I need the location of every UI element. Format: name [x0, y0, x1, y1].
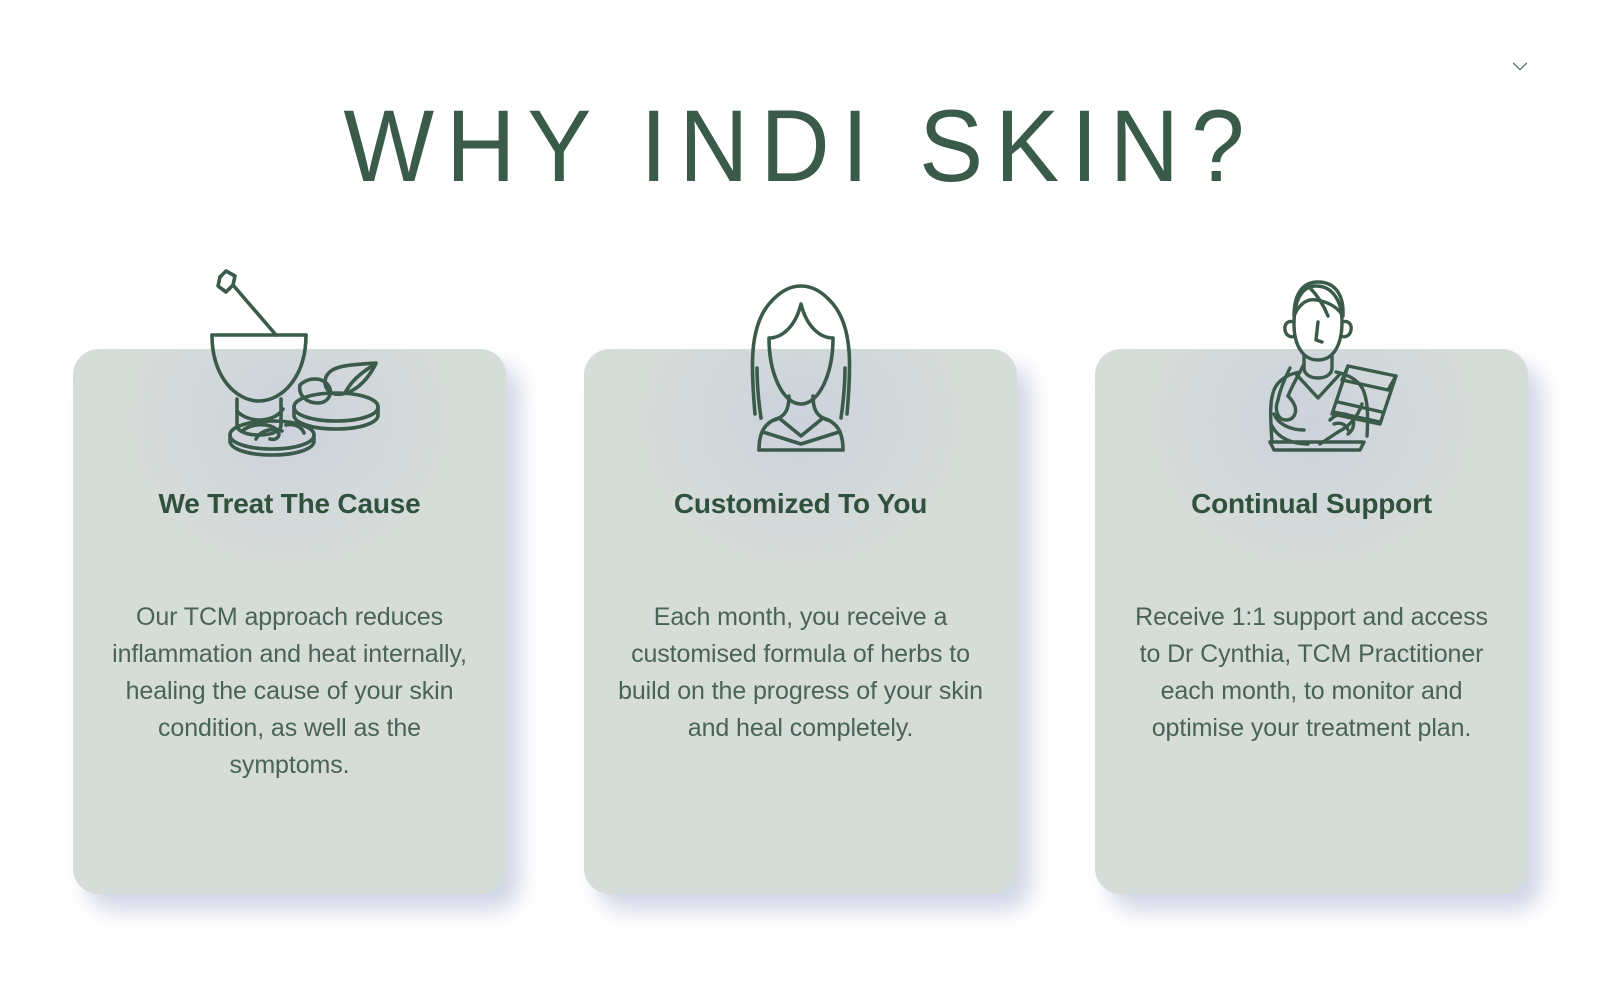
chevron-down-icon[interactable]	[1498, 44, 1542, 88]
card-surface[interactable]: We Treat The Cause Our TCM approach redu…	[73, 349, 506, 894]
page-title: WHY INDI SKIN?	[0, 96, 1600, 198]
benefit-card: We Treat The Cause Our TCM approach redu…	[73, 349, 506, 894]
card-title: Customized To You	[584, 489, 1017, 520]
card-surface[interactable]: Continual Support Receive 1:1 support an…	[1095, 349, 1528, 894]
card-glow	[125, 349, 455, 569]
card-glow	[636, 349, 966, 569]
card-title: Continual Support	[1095, 489, 1528, 520]
benefit-cards-row: We Treat The Cause Our TCM approach redu…	[73, 349, 1528, 894]
chevron-down-glyph	[1509, 55, 1531, 77]
card-body: Receive 1:1 support and access to Dr Cyn…	[1125, 599, 1498, 747]
card-body: Our TCM approach reduces inflammation an…	[103, 599, 476, 784]
benefit-card: Customized To You Each month, you receiv…	[584, 349, 1017, 894]
card-glow	[1147, 349, 1477, 569]
benefit-card: Continual Support Receive 1:1 support an…	[1095, 349, 1528, 894]
card-title: We Treat The Cause	[73, 489, 506, 520]
card-surface[interactable]: Customized To You Each month, you receiv…	[584, 349, 1017, 894]
why-indi-skin-section: WHY INDI SKIN? We Treat The Cause Our TC…	[0, 0, 1600, 1000]
card-body: Each month, you receive a customised for…	[614, 599, 987, 747]
